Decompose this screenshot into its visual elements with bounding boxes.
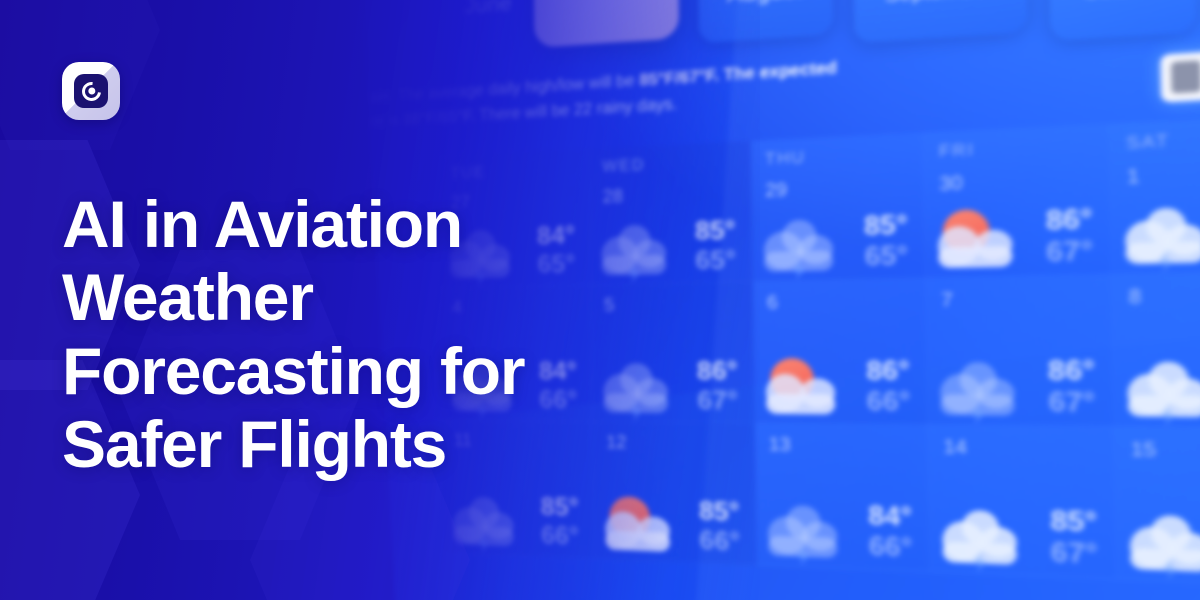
high-temp: 86°	[866, 357, 910, 388]
low-temp: 65°	[864, 241, 908, 273]
sun-cloud-icon	[935, 206, 1018, 273]
month-tab-october[interactable]: October	[1050, 0, 1196, 41]
low-temp: 67°	[1048, 388, 1095, 420]
date-number: 1	[1127, 158, 1200, 189]
weekday-label: WED	[602, 151, 750, 176]
month-tab-september[interactable]: September	[854, 0, 1028, 43]
low-temp: 66°	[866, 387, 910, 418]
cloud-bright-icon	[939, 502, 1022, 569]
forecast-cell[interactable]: 15 86° 67°	[1115, 427, 1200, 587]
date-number: 7	[941, 286, 1112, 312]
high-temp: 86°	[1048, 356, 1095, 388]
low-temp: 65°	[695, 246, 736, 276]
weekday-label: TUE	[450, 158, 588, 182]
date-number: 13	[769, 434, 928, 459]
month-tab-june[interactable]: June	[461, 0, 517, 51]
cloud-bright-icon	[1122, 199, 1200, 269]
low-temp: 66°	[541, 522, 579, 552]
weekday-label: THU	[765, 143, 924, 169]
weekday-label: SAT	[1126, 125, 1200, 154]
high-temp: 86°	[1046, 205, 1093, 238]
cloud-thunder-icon	[765, 498, 842, 563]
cloud-thunder-icon	[451, 490, 518, 551]
low-temp: 66°	[699, 527, 740, 558]
weekday-label: FRI	[939, 134, 1110, 161]
cloud-bright-icon	[1127, 507, 1200, 577]
high-temp: 85°	[864, 211, 908, 243]
high-temp: 85°	[695, 217, 736, 248]
forecast-cell[interactable]: 6 86° 66°	[753, 279, 929, 426]
high-temp: 86°	[697, 357, 738, 387]
page-title: AI in Aviation Weather Forecasting for S…	[62, 188, 682, 481]
high-temp: 85°	[699, 498, 740, 529]
low-temp: 67°	[1046, 236, 1093, 269]
forecast-cell[interactable]: SAT 1 86° 67°	[1110, 113, 1200, 275]
brand-logo[interactable]	[62, 62, 120, 120]
date-number: 29	[765, 174, 924, 203]
forecast-cell[interactable]: 14 85° 67°	[929, 425, 1118, 579]
month-tab-august[interactable]: August	[698, 0, 834, 43]
forecast-cell[interactable]: 7 86° 67°	[926, 275, 1115, 427]
date-number: 14	[943, 436, 1114, 462]
low-temp: 67°	[697, 387, 738, 417]
banner-stage: June July August September October Novem…	[0, 0, 1200, 600]
cloud-thunder-icon	[761, 212, 838, 277]
low-temp: 66°	[869, 532, 913, 564]
cloud-thunder-icon	[937, 355, 1020, 420]
forecast-cell[interactable]: 8 86° 67°	[1113, 271, 1200, 429]
forecast-cell[interactable]: 13 84° 66°	[755, 424, 931, 572]
month-tab-july[interactable]: July	[534, 0, 679, 48]
date-number: 30	[939, 166, 1110, 196]
date-number: 8	[1129, 282, 1200, 309]
high-temp: 84°	[868, 502, 912, 534]
user-avatar-icon	[1171, 60, 1200, 93]
high-temp: 85°	[541, 493, 579, 523]
low-temp: 67°	[1051, 538, 1098, 571]
sun-cloud-icon	[603, 494, 675, 557]
high-temp: 85°	[1050, 506, 1097, 539]
date-number: 15	[1131, 438, 1200, 465]
sun-cloud-icon	[763, 356, 840, 419]
camera-aperture-logo-icon	[74, 74, 108, 108]
forecast-cell[interactable]: THU 29 85° 65°	[751, 132, 926, 282]
forecast-cell[interactable]: FRI 30 86° 67°	[924, 123, 1112, 279]
cloud-bright-icon	[1124, 354, 1200, 422]
date-number: 6	[767, 289, 926, 314]
logo-dot-shape	[88, 88, 95, 95]
